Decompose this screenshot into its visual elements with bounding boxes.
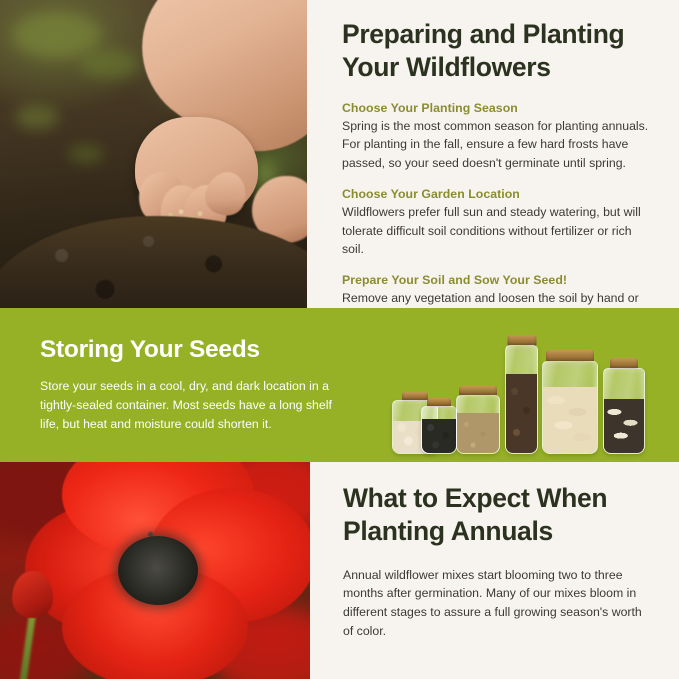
jar-glass (505, 345, 538, 454)
red-poppy-flower-closeup-photo (0, 462, 310, 679)
seed-fill-black (422, 419, 456, 453)
jar-glass (456, 395, 500, 454)
body-planting-season: Spring is the most common season for pla… (342, 117, 653, 173)
subheading-garden-location: Choose Your Garden Location (342, 187, 653, 201)
hand-sowing-seeds-in-soil-photo (0, 0, 307, 308)
seed-fill-striped (604, 399, 644, 453)
seed-fill-tan (457, 413, 499, 453)
seed-jar (505, 335, 538, 454)
planting-text-panel: Preparing and Planting Your Wildflowers … (307, 0, 679, 308)
foliage-blur-icon (12, 12, 102, 58)
glass-jars-of-seeds-photo (378, 322, 668, 454)
infographic-page: Preparing and Planting Your Wildflowers … (0, 0, 679, 679)
seed-jar (542, 350, 598, 454)
expect-title: What to Expect When Planting Annuals (343, 482, 653, 549)
planting-section: Preparing and Planting Your Wildflowers … (0, 0, 679, 308)
foliage-blur-icon (80, 49, 138, 79)
seed-jar (421, 398, 457, 454)
subheading-prepare-soil: Prepare Your Soil and Sow Your Seed! (342, 273, 653, 287)
subheading-planting-season: Choose Your Planting Season (342, 101, 653, 115)
seed-fill-dark (506, 374, 537, 453)
storing-text-block: Storing Your Seeds Store your seeds in a… (40, 336, 340, 434)
foliage-blur-icon (15, 105, 59, 129)
jar-glass (421, 406, 457, 454)
storing-body: Store your seeds in a cool, dry, and dar… (40, 377, 340, 434)
seed-jar (456, 386, 500, 454)
page-title: Preparing and Planting Your Wildflowers (342, 18, 653, 85)
seed-jar (603, 358, 645, 454)
jar-glass (603, 368, 645, 454)
foliage-blur-icon (68, 145, 104, 163)
storing-title: Storing Your Seeds (40, 336, 340, 364)
what-to-expect-section: What to Expect When Planting Annuals Ann… (0, 462, 679, 679)
poppy-center-core (118, 536, 199, 605)
body-garden-location: Wildflowers prefer full sun and steady w… (342, 203, 653, 259)
seed-fill-flat (543, 387, 597, 453)
poppy-bud-shape (12, 571, 52, 619)
expect-body: Annual wildflower mixes start blooming t… (343, 566, 653, 641)
expect-text-panel: What to Expect When Planting Annuals Ann… (310, 462, 679, 679)
jar-glass (542, 361, 598, 454)
